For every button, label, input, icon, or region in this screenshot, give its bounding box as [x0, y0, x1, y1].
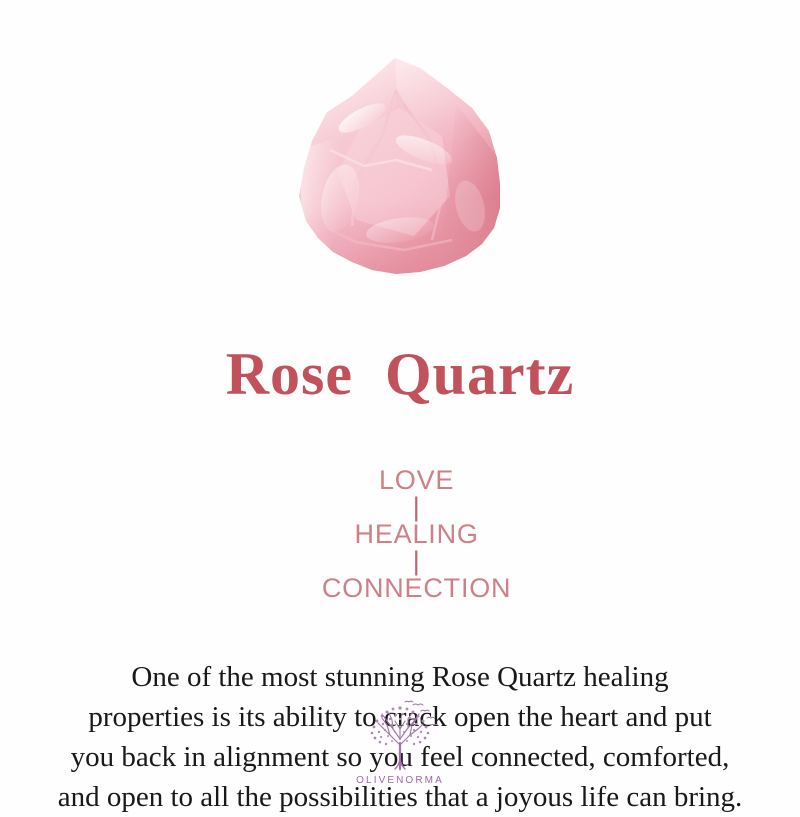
bird-icon: [413, 704, 423, 705]
hero-image-container: [0, 0, 800, 300]
bird-icon: [421, 710, 429, 711]
tree-of-life-icon: [357, 699, 443, 773]
description-line: One of the most stunning Rose Quartz hea…: [30, 657, 770, 697]
keyword-separator-1: |: [410, 492, 424, 522]
keyword-love: LOVE: [379, 465, 454, 495]
bird-icon: [427, 717, 434, 718]
bird-icon: [431, 724, 437, 725]
bird-icon: [405, 701, 413, 702]
keyword-separator-2: |: [410, 546, 424, 576]
keyword-healing: HEALING: [355, 519, 479, 549]
product-card: Rose Quartz LOVE | HEALING | CONNECTION …: [0, 0, 800, 800]
keyword-line: LOVE | HEALING | CONNECTION: [289, 440, 512, 629]
page-title: Rose Quartz: [226, 344, 575, 404]
rose-quartz-crystal: [0, 0, 800, 300]
brand-wordmark: OLIVENORMA: [356, 775, 444, 786]
keyword-connection: CONNECTION: [322, 573, 512, 603]
brand-logo: OLIVENORMA: [0, 699, 800, 786]
